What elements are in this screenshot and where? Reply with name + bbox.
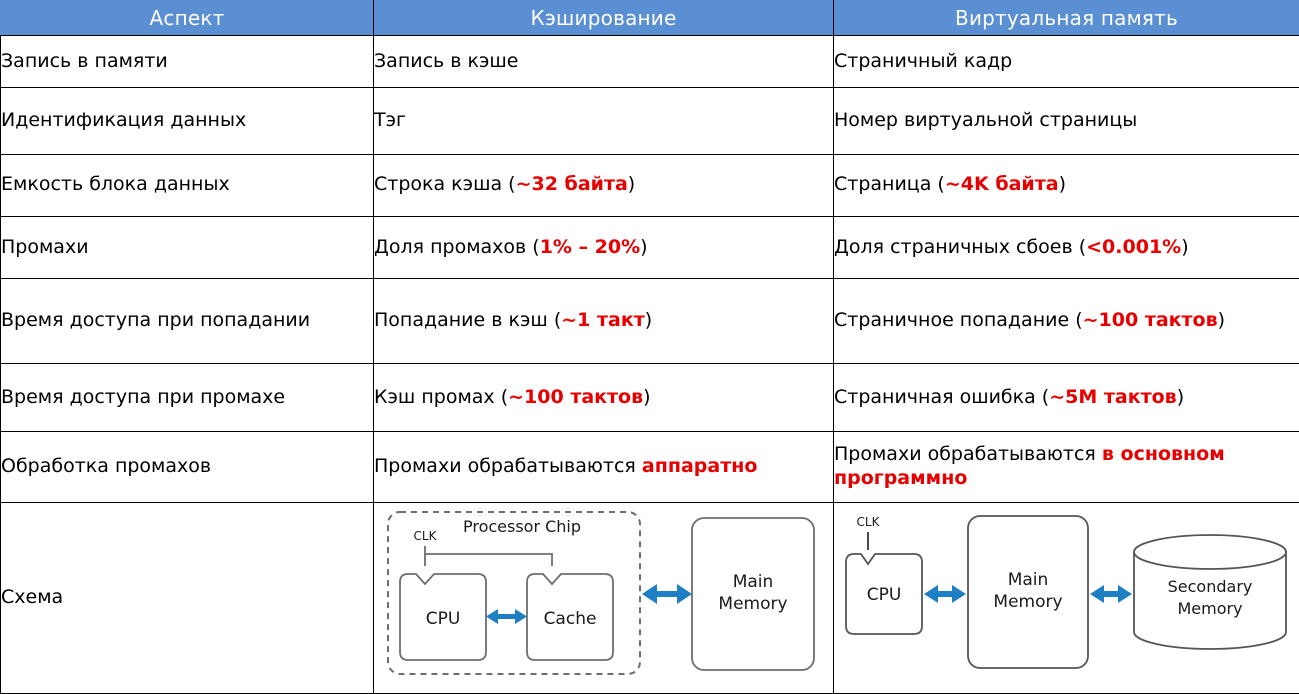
cell-text: Попадание в кэш ( — [374, 309, 561, 331]
cell-vm-memory-entry: Страничный кадр — [834, 36, 1299, 88]
cell-caching-block-capacity: Строка кэша (~32 байта) — [374, 154, 834, 216]
cpu-label: CPU — [426, 609, 461, 629]
cpu-label: CPU — [867, 585, 902, 605]
cell-text: Строка кэша ( — [374, 173, 516, 195]
cell-text: Страница ( — [834, 173, 945, 195]
cell-text-post: ) — [628, 173, 635, 195]
cache-diagram-svg: Processor Chip CLK CPU Cache — [374, 504, 832, 692]
table-row-diagram: Схема Processor Chip CLK — [1, 502, 1299, 693]
cell-text: Доля промахов ( — [374, 236, 540, 258]
row-label-miss-handling: Обработка промахов — [1, 432, 374, 502]
cell-text-post: ) — [1218, 309, 1225, 331]
main-memory-label-line1: Main — [1008, 570, 1049, 590]
cpu-cache-arrow — [486, 609, 527, 624]
table-row: Обработка промахов Промахи обрабатываютс… — [1, 432, 1299, 502]
column-header-virtual-memory: Виртуальная память — [834, 1, 1299, 36]
table-row: Емкость блока данных Строка кэша (~32 ба… — [1, 154, 1299, 216]
vm-diagram-svg: CLK CPU — [834, 504, 1298, 692]
cell-text: Страничный кадр — [834, 50, 1012, 72]
cell-text: Кэш промах ( — [374, 386, 508, 408]
cell-text: Номер виртуальной страницы — [834, 109, 1137, 131]
cell-caching-miss-access-time: Кэш промах (~100 тактов) — [374, 363, 834, 431]
cell-highlight: ~32 байта — [516, 173, 628, 195]
cell-vm-data-identification: Номер виртуальной страницы — [834, 88, 1299, 154]
cell-vm-block-capacity: Страница (~4K байта) — [834, 154, 1299, 216]
cell-vm-diagram: CLK CPU — [834, 502, 1299, 693]
secondary-memory-label-line1: Secondary — [1168, 577, 1253, 596]
cell-highlight: 1% – 20% — [540, 236, 640, 258]
cell-caching-diagram: Processor Chip CLK CPU Cache — [374, 502, 834, 693]
header-row: Аспект Кэширование Виртуальная память — [1, 1, 1299, 36]
cell-vm-miss-handling: Промахи обрабатываются в основном програ… — [834, 432, 1299, 502]
row-label-hit-access-time: Время доступа при попадании — [1, 279, 374, 364]
cell-caching-data-identification: Тэг — [374, 88, 834, 154]
main-memory-label-line2: Memory — [993, 592, 1062, 612]
table-header: Аспект Кэширование Виртуальная память — [1, 1, 1299, 36]
virtual-memory-architecture-diagram: CLK CPU — [834, 504, 1299, 692]
comparison-table-sheet: Аспект Кэширование Виртуальная память За… — [0, 0, 1299, 694]
cell-text: Промахи обрабатываются — [374, 455, 642, 477]
cache-label: Cache — [544, 609, 597, 629]
secondary-memory-label-line2: Memory — [1177, 599, 1242, 618]
cell-caching-misses: Доля промахов (1% – 20%) — [374, 217, 834, 279]
processor-chip-label: Processor Chip — [463, 517, 581, 536]
cell-vm-miss-access-time: Страничная ошибка (~5М тактов) — [834, 363, 1299, 431]
row-label-misses: Промахи — [1, 217, 374, 279]
main-memory-label-line1: Main — [733, 572, 774, 592]
cell-caching-memory-entry: Запись в кэше — [374, 36, 834, 88]
cell-text-post: ) — [1181, 236, 1188, 258]
clk-label: CLK — [414, 529, 438, 543]
cell-text: Промахи обрабатываются — [834, 443, 1102, 465]
cell-highlight: аппаратно — [642, 455, 758, 477]
cell-highlight: ~100 тактов — [1083, 309, 1218, 331]
cell-caching-miss-handling: Промахи обрабатываются аппаратно — [374, 432, 834, 502]
clk-distribution-line — [425, 546, 552, 566]
cpu-main-memory-arrow — [924, 585, 966, 603]
cell-text-post: ) — [645, 309, 652, 331]
cell-highlight: ~5М тактов — [1049, 386, 1176, 408]
column-header-aspect: Аспект — [1, 1, 374, 36]
clk-label: CLK — [857, 515, 881, 529]
main-secondary-arrow — [1090, 585, 1132, 603]
row-label-data-identification: Идентификация данных — [1, 88, 374, 154]
row-label-memory-entry: Запись в памяти — [1, 36, 374, 88]
cell-text-post: ) — [643, 386, 650, 408]
cache-architecture-diagram: Processor Chip CLK CPU Cache — [374, 504, 833, 692]
cell-vm-hit-access-time: Страничное попадание (~100 тактов) — [834, 279, 1299, 364]
table-row: Промахи Доля промахов (1% – 20%) Доля ст… — [1, 217, 1299, 279]
row-label-miss-access-time: Время доступа при промахе — [1, 363, 374, 431]
cell-highlight: ~1 такт — [561, 309, 645, 331]
table-row: Идентификация данных Тэг Номер виртуальн… — [1, 88, 1299, 154]
table-row: Время доступа при попадании Попадание в … — [1, 279, 1299, 364]
cell-text-post: ) — [1059, 173, 1066, 195]
cell-text: Страничное попадание ( — [834, 309, 1083, 331]
table-row: Время доступа при промахе Кэш промах (~1… — [1, 363, 1299, 431]
table-row: Запись в памяти Запись в кэше Страничный… — [1, 36, 1299, 88]
cell-highlight: ~100 тактов — [508, 386, 643, 408]
table-body: Запись в памяти Запись в кэше Страничный… — [1, 36, 1299, 694]
comparison-table: Аспект Кэширование Виртуальная память За… — [0, 0, 1299, 694]
cell-highlight: <0.001% — [1086, 236, 1181, 258]
cell-text: Запись в кэше — [374, 50, 519, 72]
column-header-caching: Кэширование — [374, 1, 834, 36]
cell-text: Тэг — [374, 109, 406, 131]
row-label-schema: Схема — [1, 502, 374, 693]
cell-text: Страничная ошибка ( — [834, 386, 1049, 408]
cell-text-post: ) — [1177, 386, 1184, 408]
cell-highlight: ~4K байта — [945, 173, 1059, 195]
chip-memory-arrow — [642, 584, 692, 604]
main-memory-label-line2: Memory — [718, 594, 787, 614]
row-label-block-capacity: Емкость блока данных — [1, 154, 374, 216]
cell-text-post: ) — [640, 236, 647, 258]
cell-vm-misses: Доля страничных сбоев (<0.001%) — [834, 217, 1299, 279]
cell-text: Доля страничных сбоев ( — [834, 236, 1086, 258]
cell-caching-hit-access-time: Попадание в кэш (~1 такт) — [374, 279, 834, 364]
